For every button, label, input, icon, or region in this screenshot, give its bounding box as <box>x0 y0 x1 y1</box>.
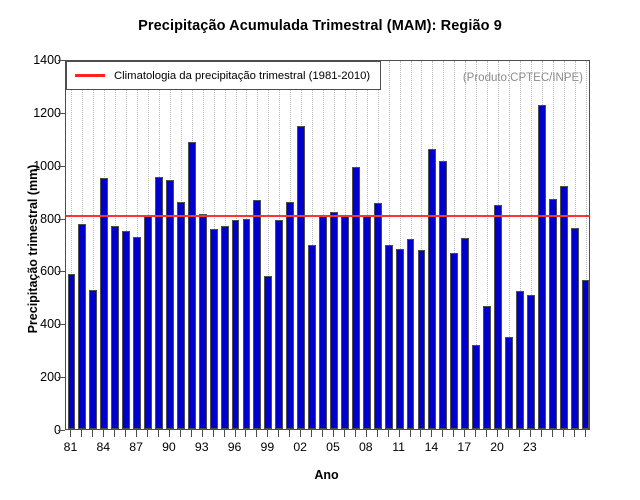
x-tick-mark <box>377 430 378 437</box>
x-tick-mark <box>70 430 71 437</box>
x-tick-mark <box>442 430 443 437</box>
x-tick-mark <box>114 430 115 437</box>
y-tick-label: 0 <box>1 423 61 437</box>
bar <box>68 274 76 429</box>
bar <box>494 205 502 429</box>
x-tick-mark <box>388 430 389 437</box>
x-tick-mark <box>431 430 432 437</box>
x-tick-mark <box>81 430 82 437</box>
produto-annotation: (Produto:CPTEC/INPE) <box>463 72 583 84</box>
x-tick-mark <box>136 430 137 437</box>
bar <box>450 253 458 429</box>
bar <box>275 220 283 429</box>
x-tick-mark <box>585 430 586 437</box>
x-tick-mark <box>486 430 487 437</box>
y-tick-label: 400 <box>1 317 61 331</box>
bar <box>582 280 590 429</box>
x-tick-mark <box>410 430 411 437</box>
x-tick-mark <box>399 430 400 437</box>
x-tick-mark <box>344 430 345 437</box>
x-tick-mark <box>147 430 148 437</box>
x-tick-mark <box>92 430 93 437</box>
x-tick-mark <box>125 430 126 437</box>
y-tick-mark <box>58 113 65 114</box>
x-tick-mark <box>180 430 181 437</box>
bar <box>341 216 349 429</box>
x-tick-mark <box>420 430 421 437</box>
x-tick-mark <box>355 430 356 437</box>
x-tick-mark <box>169 430 170 437</box>
y-tick-mark <box>58 271 65 272</box>
x-tick-mark <box>158 430 159 437</box>
y-tick-label: 1200 <box>1 106 61 120</box>
x-tick-label: 23 <box>510 440 550 454</box>
plot-area: (Produto:CPTEC/INPE) <box>65 60 590 430</box>
bar <box>144 216 152 429</box>
bar <box>264 276 272 429</box>
x-tick-mark <box>267 430 268 437</box>
x-tick-mark <box>497 430 498 437</box>
bar <box>483 306 491 429</box>
bar <box>78 224 86 429</box>
bar <box>199 214 207 429</box>
bar <box>549 199 557 429</box>
bar <box>319 216 327 429</box>
x-tick-mark <box>563 430 564 437</box>
x-tick-mark <box>366 430 367 437</box>
bar <box>122 231 130 429</box>
bar <box>505 337 513 430</box>
y-tick-mark <box>58 324 65 325</box>
bar <box>407 239 415 429</box>
x-tick-mark <box>530 430 531 437</box>
x-tick-mark <box>278 430 279 437</box>
x-tick-mark <box>300 430 301 437</box>
x-tick-mark <box>541 430 542 437</box>
x-tick-mark <box>574 430 575 437</box>
y-tick-label: 1400 <box>1 53 61 67</box>
x-tick-mark <box>333 430 334 437</box>
x-tick-mark <box>552 430 553 437</box>
x-tick-mark <box>322 430 323 437</box>
chart-title: Precipitação Acumulada Trimestral (MAM):… <box>0 18 640 34</box>
x-tick-mark <box>508 430 509 437</box>
x-tick-mark <box>245 430 246 437</box>
bar <box>243 219 251 429</box>
x-tick-mark <box>464 430 465 437</box>
chart-figure: Precipitação Acumulada Trimestral (MAM):… <box>0 0 640 500</box>
bar <box>461 238 469 429</box>
legend-label: Climatologia da precipitação trimestral … <box>114 70 370 82</box>
bar <box>428 149 436 429</box>
bar <box>396 249 404 429</box>
x-tick-mark <box>289 430 290 437</box>
bar <box>560 186 568 429</box>
legend-line-swatch <box>75 74 105 76</box>
y-tick-mark <box>58 377 65 378</box>
bar <box>516 291 524 429</box>
bar <box>210 229 218 429</box>
bar <box>330 212 338 429</box>
bar <box>538 105 546 429</box>
x-tick-mark <box>224 430 225 437</box>
x-tick-mark <box>519 430 520 437</box>
x-tick-mark <box>453 430 454 437</box>
bar <box>571 228 579 429</box>
x-tick-mark <box>191 430 192 437</box>
x-tick-mark <box>311 430 312 437</box>
y-tick-mark <box>58 430 65 431</box>
bar <box>385 245 393 429</box>
bar <box>89 290 97 429</box>
bar <box>221 226 229 430</box>
bar <box>166 180 174 429</box>
x-tick-mark <box>202 430 203 437</box>
y-tick-mark <box>58 166 65 167</box>
x-tick-mark <box>256 430 257 437</box>
y-tick-label: 800 <box>1 212 61 226</box>
y-tick-mark <box>58 219 65 220</box>
chart-legend: Climatologia da precipitação trimestral … <box>66 61 381 90</box>
x-axis-title: Ano <box>64 468 589 482</box>
bar <box>253 200 261 429</box>
bar <box>133 237 141 429</box>
x-tick-mark <box>235 430 236 437</box>
bar <box>527 295 535 429</box>
bar <box>352 167 360 429</box>
bar <box>111 226 119 429</box>
x-tick-mark <box>213 430 214 437</box>
bar <box>232 220 240 429</box>
y-tick-label: 1000 <box>1 159 61 173</box>
bar <box>308 245 316 429</box>
bar <box>374 203 382 429</box>
bar <box>439 161 447 429</box>
y-tick-mark <box>58 60 65 61</box>
y-tick-label: 200 <box>1 370 61 384</box>
bar <box>297 126 305 429</box>
x-tick-mark <box>103 430 104 437</box>
bar <box>177 202 185 429</box>
bar <box>363 216 371 429</box>
bar <box>188 142 196 429</box>
bar <box>286 202 294 429</box>
x-tick-mark <box>475 430 476 437</box>
bar <box>472 345 480 429</box>
bar <box>418 250 426 429</box>
y-tick-label: 600 <box>1 264 61 278</box>
climatology-reference-line <box>66 215 589 217</box>
